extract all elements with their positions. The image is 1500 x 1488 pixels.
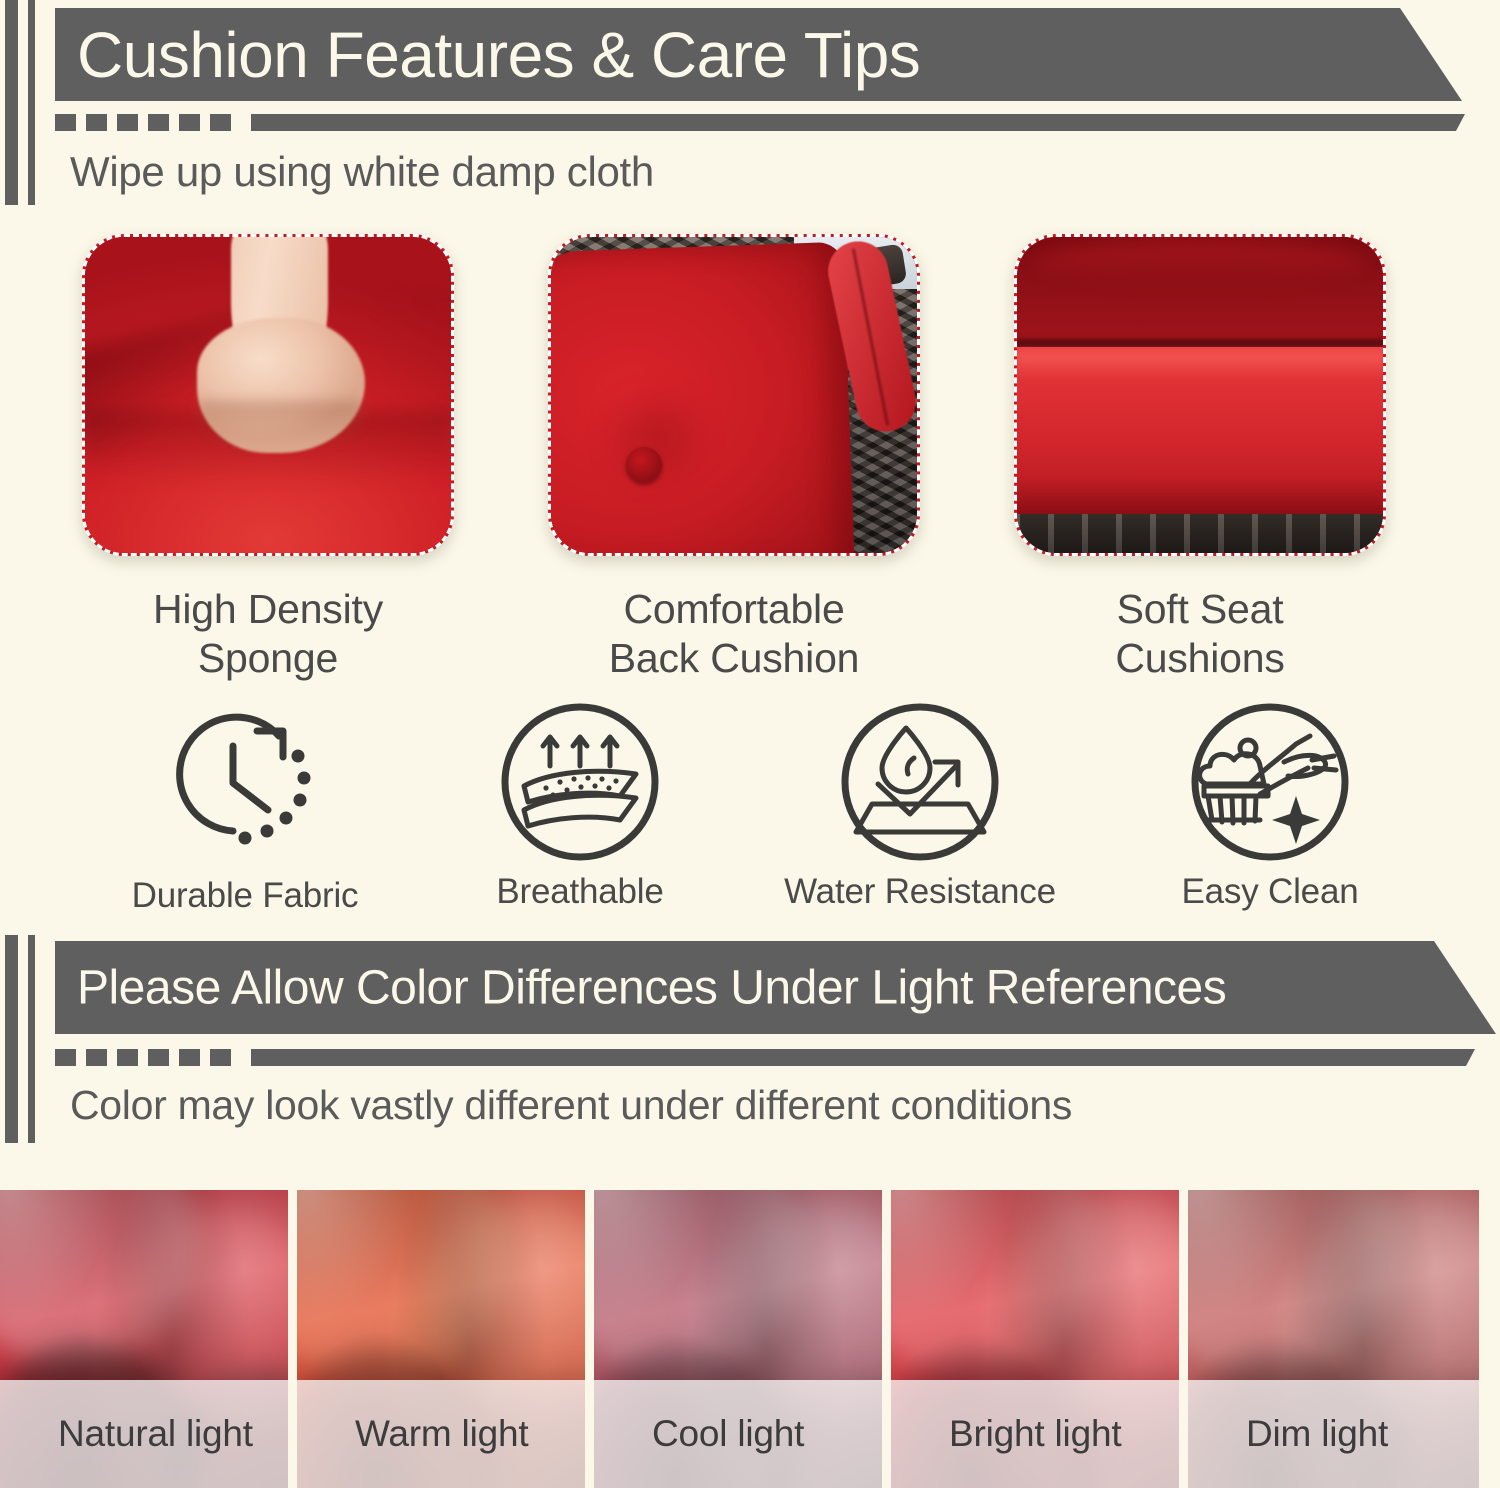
- swatch-label-cool-light: Cool light: [594, 1413, 804, 1455]
- hand-scrub-brush-icon: [1188, 700, 1352, 864]
- swatch-label-bar-3: Cool light: [594, 1380, 882, 1488]
- section2-banner: Please Allow Color Differences Under Lig…: [55, 941, 1496, 1034]
- left-rail-thick-top: [5, 0, 18, 205]
- photo-caption-1-line1: High Density: [82, 585, 454, 634]
- swatch-label-bar-4: Bright light: [891, 1380, 1179, 1488]
- swatch-natural-light: Natural light: [0, 1190, 288, 1488]
- section1-subtitle: Wipe up using white damp cloth: [70, 148, 654, 196]
- photo-high-density-sponge: [82, 234, 454, 556]
- feature-label-easy-clean: Easy Clean: [1110, 872, 1430, 912]
- left-rail-thin-top: [28, 0, 35, 205]
- photo-caption-2-line2: Back Cushion: [548, 634, 920, 683]
- clock-arrow-icon: [157, 700, 333, 868]
- color-swatch-strip: Natural light Warm light: [0, 1190, 1500, 1488]
- swatch-label-dim-light: Dim light: [1188, 1413, 1388, 1455]
- breathable-fabric-icon: [498, 700, 662, 864]
- feature-label-breathable: Breathable: [420, 872, 740, 912]
- photo-caption-1: High Density Sponge: [82, 585, 454, 683]
- feature-durable-fabric: Durable Fabric: [70, 700, 420, 916]
- feature-breathable: Breathable: [420, 700, 740, 912]
- photo-caption-1-line2: Sponge: [82, 634, 454, 683]
- section2-subtitle: Color may look vastly different under di…: [70, 1082, 1072, 1129]
- swatch-cool-light: Cool light: [594, 1190, 882, 1488]
- feature-label-durable-fabric: Durable Fabric: [70, 876, 420, 916]
- water-droplet-repel-icon: [838, 700, 1002, 864]
- section2-banner-title: Please Allow Color Differences Under Lig…: [77, 960, 1226, 1015]
- section2-divider: [55, 1049, 1475, 1066]
- feature-easy-clean: Easy Clean: [1110, 700, 1430, 912]
- section1-divider: [55, 114, 1465, 131]
- swatch-bright-light: Bright light: [891, 1190, 1179, 1488]
- swatch-dim-light: Dim light: [1188, 1190, 1479, 1488]
- photo-caption-2: Comfortable Back Cushion: [548, 585, 920, 683]
- swatch-warm-light: Warm light: [297, 1190, 585, 1488]
- swatch-label-bar-2: Warm light: [297, 1380, 585, 1488]
- swatch-label-bar-5: Dim light: [1188, 1380, 1479, 1488]
- left-rail-thin-bottom: [28, 935, 35, 1143]
- photo-caption-2-line1: Comfortable: [548, 585, 920, 634]
- swatch-label-warm-light: Warm light: [297, 1413, 528, 1455]
- photo-caption-3-line2: Cushions: [1014, 634, 1386, 683]
- feature-water-resistance: Water Resistance: [750, 700, 1090, 912]
- swatch-label-bar-1: Natural light: [0, 1380, 288, 1488]
- photo-caption-3: Soft Seat Cushions: [1014, 585, 1386, 683]
- feature-label-water-resistance: Water Resistance: [750, 872, 1090, 912]
- left-rail-thick-bottom: [5, 935, 18, 1143]
- photo-comfortable-back-cushion: [548, 234, 920, 556]
- section1-banner-title: Cushion Features & Care Tips: [77, 18, 920, 92]
- photo-soft-seat-cushions: [1014, 234, 1386, 556]
- swatch-label-bright-light: Bright light: [891, 1413, 1121, 1455]
- infographic-page: Cushion Features & Care Tips Wipe up usi…: [0, 0, 1500, 1488]
- photo-caption-3-line1: Soft Seat: [1014, 585, 1386, 634]
- section1-banner: Cushion Features & Care Tips: [55, 8, 1462, 101]
- swatch-label-natural-light: Natural light: [0, 1413, 253, 1455]
